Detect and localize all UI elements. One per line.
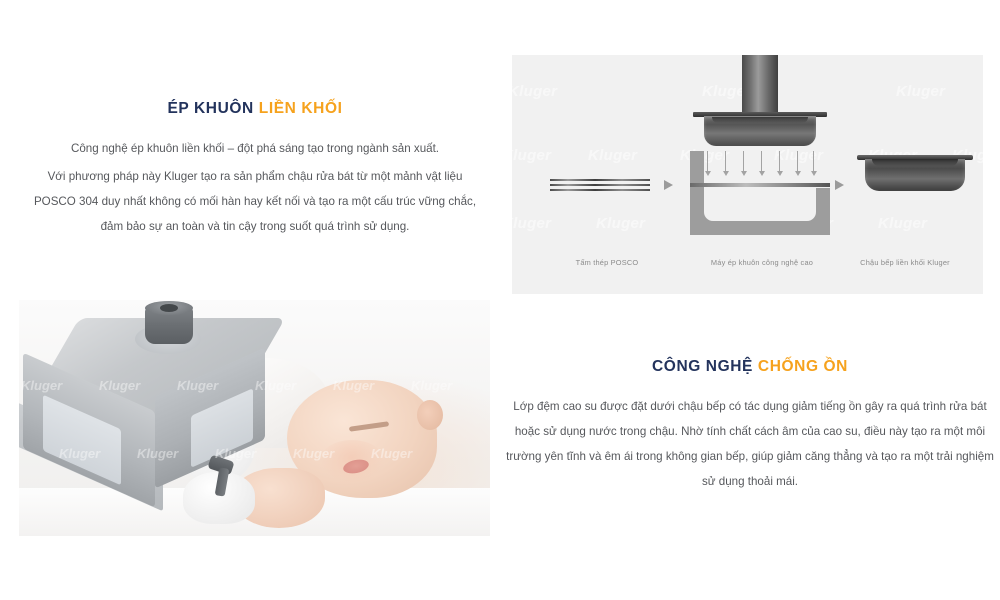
mold-cavity [704, 188, 816, 221]
noise-reduction-paragraph-1: Lớp đệm cao su được đặt dưới chậu bếp có… [505, 394, 995, 494]
manufacturing-process-diagram: Kluger Kluger Kluger Kluger Kluger Kluge… [512, 55, 983, 294]
diagram-caption-press-machine: Máy ép khuôn công nghệ cao [672, 258, 852, 267]
down-arrow-icon [707, 151, 708, 173]
mold-press-heading: ÉP KHUÔN LIỀN KHỐI [30, 100, 480, 119]
kluger-watermark: Kluger [512, 147, 551, 164]
hydraulic-press-machine [690, 55, 830, 255]
kluger-watermark: Kluger [588, 147, 637, 164]
noise-reduction-photo: Kluger Kluger Kluger Kluger Kluger Kluge… [19, 300, 490, 536]
press-ram [742, 55, 778, 113]
mold-press-heading-accent: LIỀN KHỐI [259, 100, 343, 117]
steel-sheet-line [550, 189, 650, 191]
noise-reduction-heading-dark: CÔNG NGHỆ [652, 358, 753, 375]
steel-sheet-line [550, 184, 650, 186]
press-force-arrows [705, 151, 815, 181]
kluger-watermark: Kluger [878, 215, 927, 232]
down-arrow-icon [813, 151, 814, 173]
flow-arrow-icon [835, 180, 844, 190]
down-arrow-icon [761, 151, 762, 173]
kluger-watermark: Kluger [512, 83, 557, 100]
diagram-caption-finished-basin: Chậu bếp liền khối Kluger [830, 258, 980, 267]
page-root: ÉP KHUÔN LIỀN KHỐI Công nghệ ép khuôn li… [0, 0, 1000, 600]
noise-reduction-heading-accent: CHỐNG ỒN [758, 358, 848, 375]
baby-ear [417, 400, 443, 430]
insulated-sink-underside [19, 308, 281, 524]
kluger-watermark: Kluger [596, 215, 645, 232]
steel-sheet-line [550, 179, 650, 181]
down-arrow-icon [797, 151, 798, 173]
mold-press-heading-dark: ÉP KHUÔN [167, 100, 253, 117]
mold-press-text-block: ÉP KHUÔN LIỀN KHỐI Công nghệ ép khuôn li… [30, 100, 480, 242]
mold-press-paragraph-2: Với phương pháp này Kluger tạo ra sản ph… [30, 164, 480, 239]
noise-reduction-text-block: CÔNG NGHỆ CHỐNG ỒN Lớp đệm cao su được đ… [505, 358, 995, 497]
basin-body [865, 159, 965, 191]
diagram-caption-steel-sheet: Tấm thép POSCO [522, 258, 692, 267]
down-arrow-icon [779, 151, 780, 173]
outlet-stem [215, 467, 230, 496]
flow-arrow-icon [664, 180, 673, 190]
posco-steel-sheet-stack [550, 179, 650, 193]
kluger-watermark: Kluger [512, 215, 551, 232]
mold-press-paragraph-1: Công nghệ ép khuôn liền khối – đột phá s… [30, 136, 480, 161]
kluger-watermark: Kluger [896, 83, 945, 100]
down-arrow-icon [743, 151, 744, 173]
noise-reduction-heading: CÔNG NGHỆ CHỐNG ỒN [505, 358, 995, 377]
down-arrow-icon [725, 151, 726, 173]
drain-hole [160, 304, 178, 312]
finished-sink-basin [857, 155, 973, 205]
steel-sheet-in-press [690, 183, 830, 187]
press-die-body [704, 116, 816, 146]
